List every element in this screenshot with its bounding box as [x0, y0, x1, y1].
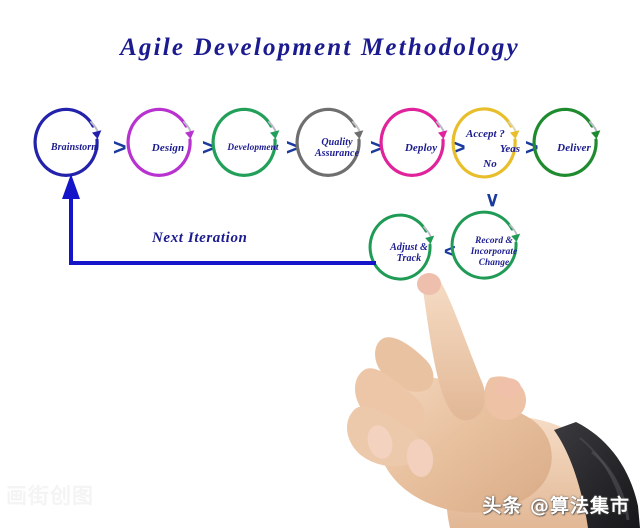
node-label-brainstorm: Brainstorm [51, 142, 99, 154]
node-label-deliver: Deliver [557, 142, 591, 155]
node-label-accept: Accept ? Yeas No [464, 127, 522, 172]
node-brainstorm[interactable]: Brainstorm [41, 113, 109, 183]
next-iteration-label: Next Iteration [152, 230, 248, 247]
node-quality-assurance[interactable]: Quality Assurance [303, 113, 371, 183]
node-label-development: Development [227, 143, 278, 154]
node-label-adjust-track: Adjust & Track [390, 242, 428, 265]
accept-line-no: No [464, 157, 522, 172]
page-title: Agile Development Methodology [0, 34, 640, 62]
watermark-bottom-right: 头条 @算法集市 [482, 491, 630, 518]
chevron-down-1: ∨ [485, 190, 500, 210]
accept-line-question: Accept ? [464, 127, 522, 142]
watermark-bottom-left: 画街创图 [6, 480, 94, 510]
node-label-quality-assurance: Quality Assurance [315, 137, 359, 160]
node-design[interactable]: Design [134, 113, 202, 183]
node-accept-decision[interactable]: Accept ? Yeas No [459, 112, 527, 186]
node-label-design: Design [152, 142, 184, 155]
accept-line-yes: Yeas [464, 142, 522, 157]
pointing-hand-image [330, 270, 640, 528]
diagram-canvas: Agile Development Methodology Brainstorm… [0, 0, 640, 528]
chevron-right-1: > [113, 136, 126, 159]
node-deploy[interactable]: Deploy [387, 113, 455, 183]
node-label-deploy: Deploy [405, 142, 437, 155]
node-deliver[interactable]: Deliver [540, 113, 608, 183]
node-label-record-change: Record & Incorporate Change [471, 236, 518, 269]
node-development[interactable]: Development [219, 113, 287, 183]
